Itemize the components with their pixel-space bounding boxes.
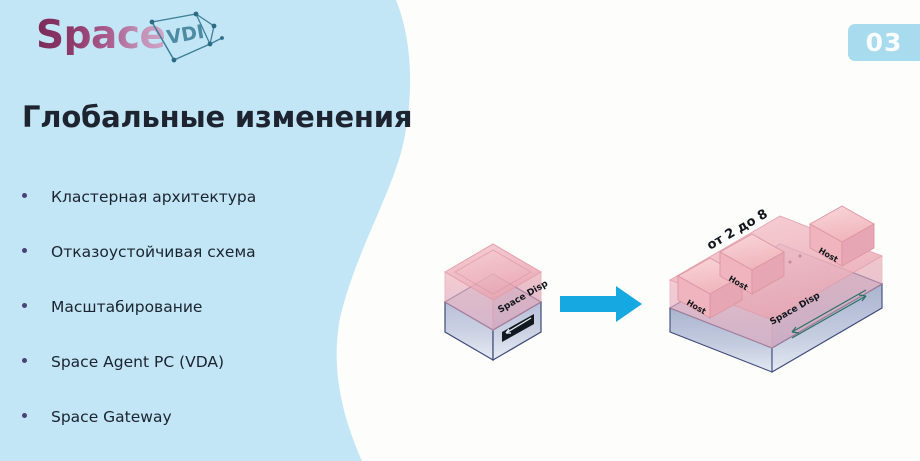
list-item-label: Space Gateway xyxy=(51,408,172,426)
bullet-dot-icon xyxy=(22,413,27,418)
bullet-dot-icon xyxy=(22,248,27,253)
list-item: Space Gateway xyxy=(22,408,352,461)
page-number-text: 03 xyxy=(866,28,903,57)
list-item: Space Agent PC (VDA) xyxy=(22,353,352,408)
bullet-dot-icon xyxy=(22,358,27,363)
bullet-dot-icon xyxy=(22,303,27,308)
architecture-diagram: Space Disp xyxy=(420,200,920,400)
transition-arrow-icon xyxy=(560,286,642,322)
list-item-label: Кластерная архитектура xyxy=(51,188,256,206)
page-title: Глобальные изменения xyxy=(22,100,412,134)
page-number-badge: 03 xyxy=(848,24,920,61)
slide-canvas: Space VDI 03 Глобальные изменения xyxy=(0,0,920,461)
list-item: Кластерная архитектура xyxy=(22,188,352,243)
list-item-label: Отказоустойчивая схема xyxy=(51,243,256,261)
diagram-right-node: Host Host Host от 2 до 8 xyxy=(670,206,882,372)
diagram-left-node: Space Disp xyxy=(445,244,550,360)
feature-bullet-list: Кластерная архитектура Отказоустойчивая … xyxy=(22,188,352,461)
bullet-dot-icon xyxy=(22,193,27,198)
list-item: Отказоустойчивая схема xyxy=(22,243,352,298)
list-item: Масштабирование xyxy=(22,298,352,353)
logo-vdi-mark: VDI xyxy=(140,10,228,72)
list-item-label: Масштабирование xyxy=(51,298,202,316)
brand-logo: Space VDI xyxy=(36,10,226,72)
logo-vdi-text: VDI xyxy=(165,21,206,49)
list-item-label: Space Agent PC (VDA) xyxy=(51,353,224,371)
